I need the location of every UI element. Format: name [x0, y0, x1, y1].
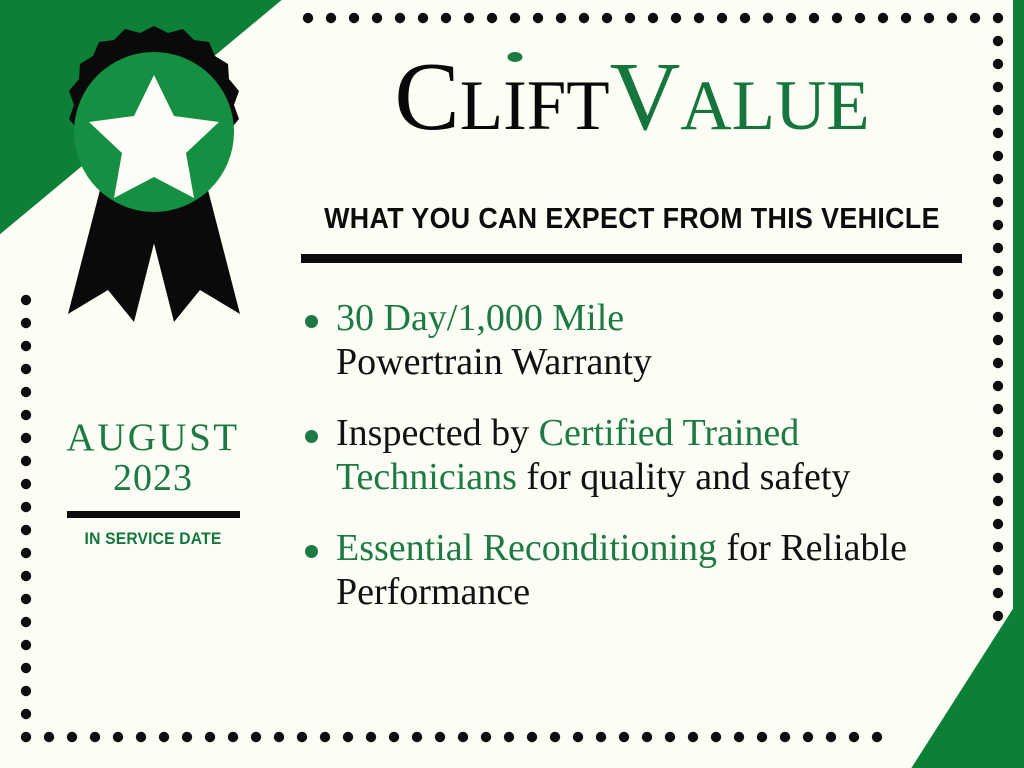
- logo-clift: CLIFT: [394, 43, 609, 151]
- logo-clift-ft: FT: [527, 67, 610, 145]
- title-underline-rule: [301, 254, 962, 263]
- green-tittle-dot: [507, 52, 522, 62]
- benefit-1-black: Powertrain Warranty: [336, 341, 652, 383]
- in-service-date-block: AUGUST 2023 IN SERVICE DATE: [28, 418, 278, 549]
- list-item: Essential Reconditioning for Reliable Pe…: [305, 526, 965, 615]
- logo-value-v: V: [610, 43, 681, 151]
- in-service-label: IN SERVICE DATE: [38, 529, 268, 549]
- benefit-text-2: Inspected by Certified Trained Technicia…: [336, 411, 965, 500]
- benefit-2-trail: for quality and safety: [517, 456, 850, 498]
- right-edge-green-strip: [1013, 0, 1024, 768]
- logo-clift-l: L: [460, 67, 503, 145]
- bullet-icon: [305, 545, 318, 558]
- logo-value-alue: ALUE: [680, 67, 869, 145]
- benefit-2-lead: Inspected by: [336, 412, 539, 454]
- in-service-year: 2023: [28, 457, 278, 501]
- list-item: Inspected by Certified Trained Technicia…: [305, 411, 965, 500]
- benefit-text-3: Essential Reconditioning for Reliable Pe…: [336, 526, 965, 615]
- list-item: 30 Day/1,000 MilePowertrain Warranty: [305, 296, 965, 385]
- logo-value: VALUE: [610, 43, 870, 151]
- in-service-rule: [67, 511, 240, 518]
- benefits-list: 30 Day/1,000 MilePowertrain Warranty Ins…: [305, 296, 965, 641]
- brand-logo: CLIFTVALUE: [300, 48, 964, 146]
- in-service-month: AUGUST: [28, 418, 278, 457]
- logo-clift-c: C: [394, 43, 459, 151]
- clift-value-vehicle-badge-card: CLIFTVALUE WHAT YOU CAN EXPECT FROM THIS…: [0, 0, 1024, 768]
- logo-clift-i: I: [503, 67, 527, 145]
- benefit-text-1: 30 Day/1,000 MilePowertrain Warranty: [336, 296, 652, 385]
- page-title: WHAT YOU CAN EXPECT FROM THIS VEHICLE: [320, 203, 944, 236]
- benefit-1-green: 30 Day/1,000 Mile: [336, 297, 624, 339]
- award-ribbon-icon: [38, 22, 270, 332]
- bullet-icon: [305, 315, 318, 328]
- benefit-3-green: Essential Reconditioning: [336, 527, 717, 569]
- bullet-icon: [305, 430, 318, 443]
